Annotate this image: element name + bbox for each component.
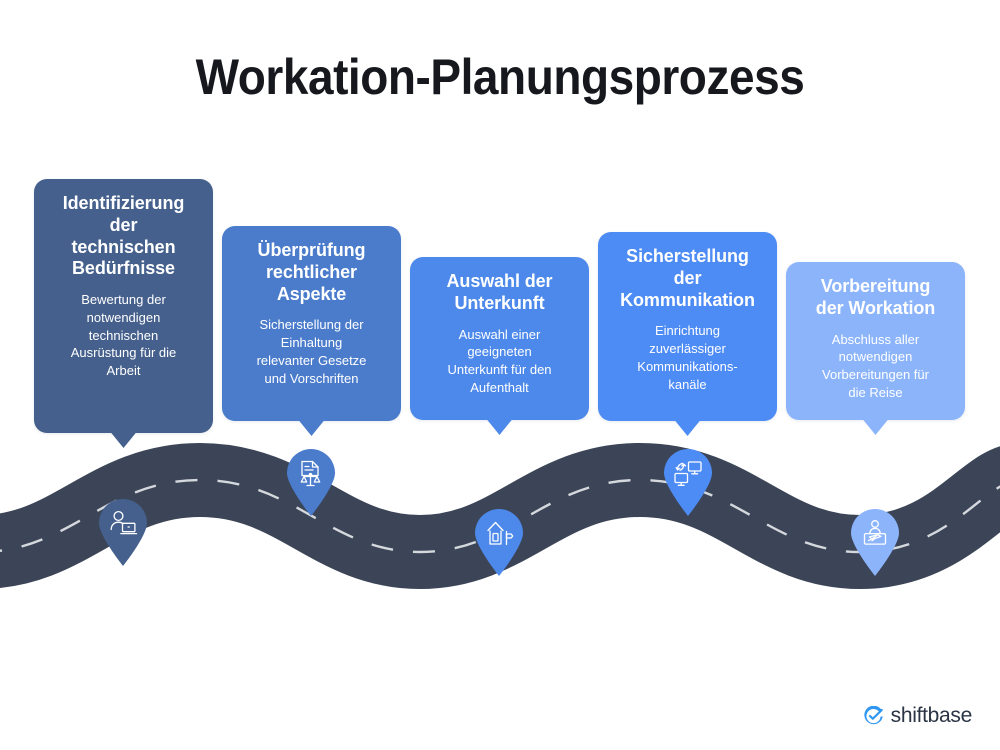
infographic-canvas: Workation-Planungsprozess Identifizierun… xyxy=(0,0,1000,750)
legal-document-scales-icon xyxy=(296,459,326,489)
check-circle-icon xyxy=(863,706,884,727)
map-pin-2[interactable] xyxy=(285,448,337,516)
step-card-tail xyxy=(299,420,325,436)
step-card-3[interactable]: Auswahl der Unterkunft Auswahl einer gee… xyxy=(410,257,589,420)
step-card-tail xyxy=(863,419,889,435)
map-pin-4[interactable] xyxy=(662,448,714,516)
step-card-body: Bewertung der notwendigen technischen Au… xyxy=(46,291,201,380)
step-card-tail xyxy=(487,419,513,435)
step-card-4[interactable]: Sicherstellung der Kommunikation Einrich… xyxy=(598,232,777,421)
step-card-body: Auswahl einer geeigneten Unterkunft für … xyxy=(422,326,577,397)
map-pin-1[interactable] xyxy=(97,498,149,566)
traveler-desk-plane-icon xyxy=(860,519,890,549)
map-pin-3[interactable] xyxy=(473,508,525,576)
map-pin-5[interactable] xyxy=(849,508,901,576)
step-card-tail xyxy=(675,420,701,436)
monitors-sync-icon xyxy=(673,459,703,489)
page-title: Workation-Planungsprozess xyxy=(40,48,960,106)
step-card-title: Auswahl der Unterkunft xyxy=(422,271,577,315)
step-card-5[interactable]: Vorbereitung der Workation Abschluss all… xyxy=(786,262,965,420)
step-card-title: Identifizierung der technischen Bedürfni… xyxy=(46,193,201,280)
step-card-body: Sicherstellung der Einhaltung relevanter… xyxy=(234,316,389,387)
person-laptop-icon xyxy=(108,509,138,539)
step-card-title: Vorbereitung der Workation xyxy=(798,276,953,320)
logo-text: shiftbase xyxy=(891,704,972,728)
step-card-1[interactable]: Identifizierung der technischen Bedürfni… xyxy=(34,179,213,433)
step-card-title: Sicherstellung der Kommunikation xyxy=(610,246,765,311)
step-card-body: Einrichtung zuverlässiger Kommunikations… xyxy=(610,322,765,393)
step-card-title: Überprüfung rechtlicher Aspekte xyxy=(234,240,389,305)
step-card-body: Abschluss aller notwendigen Vorbereitung… xyxy=(798,331,953,402)
house-signpost-icon xyxy=(484,519,514,549)
shiftbase-logo[interactable]: shiftbase xyxy=(863,704,972,728)
step-card-2[interactable]: Überprüfung rechtlicher Aspekte Sicherst… xyxy=(222,226,401,421)
